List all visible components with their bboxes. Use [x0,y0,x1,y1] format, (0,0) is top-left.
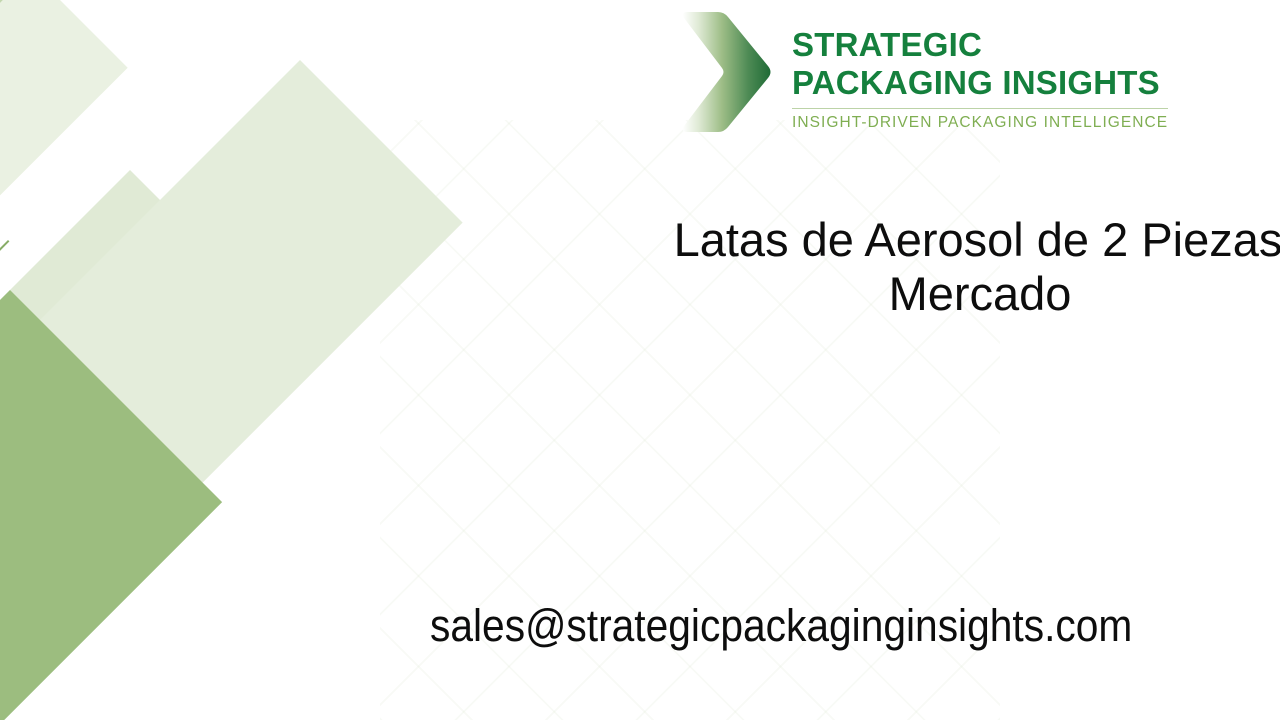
background-striped-band-upper [0,0,261,625]
report-cover-slide: STRATEGIC PACKAGING INSIGHTS INSIGHT-DRI… [0,0,1280,720]
background-band-pale-upper-right [0,60,463,527]
background-stroke-line-2 [0,240,9,720]
logo-name-line-2: PACKAGING INSIGHTS [792,64,1168,102]
chevron-arrow-mark [678,8,774,136]
background-band-pale-mid-2 [0,170,307,679]
company-logo: STRATEGIC PACKAGING INSIGHTS INSIGHT-DRI… [678,8,1198,140]
logo-wordmark: STRATEGIC PACKAGING INSIGHTS INSIGHT-DRI… [792,8,1168,132]
page-title-line-2: Mercado [640,267,1280,321]
background-band-soft-upper-2 [0,0,50,674]
page-title-line-1: Latas de Aerosol de 2 Piezas [636,213,1280,267]
background-band-green-center [0,290,222,720]
page-title: Latas de Aerosol de 2 Piezas Mercado [640,213,1280,321]
logo-name-line-1: STRATEGIC [792,26,1168,64]
background-band-pale-mid [0,250,62,720]
background-band-pale-wide [0,0,128,720]
contact-email[interactable]: sales@strategicpackaginginsights.com [430,598,1132,654]
logo-divider [792,108,1168,109]
logo-tagline: INSIGHT-DRIVEN PACKAGING INTELLIGENCE [792,114,1168,132]
